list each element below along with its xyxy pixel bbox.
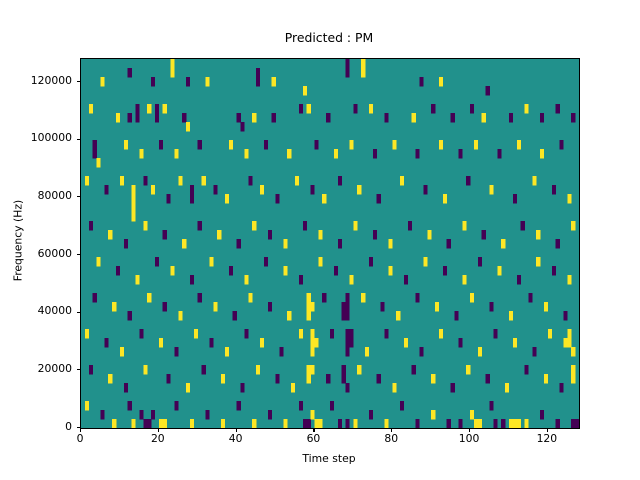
heatmap-axes (80, 58, 580, 429)
y-tick-mark (77, 81, 81, 82)
y-tick-label: 20000 (6, 362, 72, 375)
matplotlib-figure: Predicted : PM 0200004000060000800001000… (0, 0, 640, 480)
y-tick-mark (77, 369, 81, 370)
x-tick-mark (547, 428, 548, 432)
y-tick-mark (77, 196, 81, 197)
x-tick-label: 40 (206, 432, 266, 445)
x-tick-label: 120 (517, 432, 577, 445)
y-axis-label: Frequency (Hz) (12, 151, 25, 331)
x-tick-label: 0 (50, 432, 110, 445)
y-tick-mark (77, 139, 81, 140)
x-tick-label: 20 (128, 432, 188, 445)
x-tick-mark (80, 428, 81, 432)
x-tick-label: 80 (361, 432, 421, 445)
x-tick-mark (469, 428, 470, 432)
y-tick-label: 0 (6, 420, 72, 433)
x-tick-mark (236, 428, 237, 432)
y-tick-mark (77, 254, 81, 255)
x-tick-label: 100 (439, 432, 499, 445)
y-tick-label: 120000 (6, 74, 72, 87)
x-axis-label: Time step (80, 452, 578, 465)
x-tick-mark (391, 428, 392, 432)
page-title: Predicted : PM (80, 30, 578, 45)
x-tick-label: 60 (283, 432, 343, 445)
x-tick-mark (158, 428, 159, 432)
x-tick-mark (313, 428, 314, 432)
y-tick-label: 100000 (6, 131, 72, 144)
spectrogram-heatmap (81, 59, 579, 428)
y-tick-mark (77, 312, 81, 313)
